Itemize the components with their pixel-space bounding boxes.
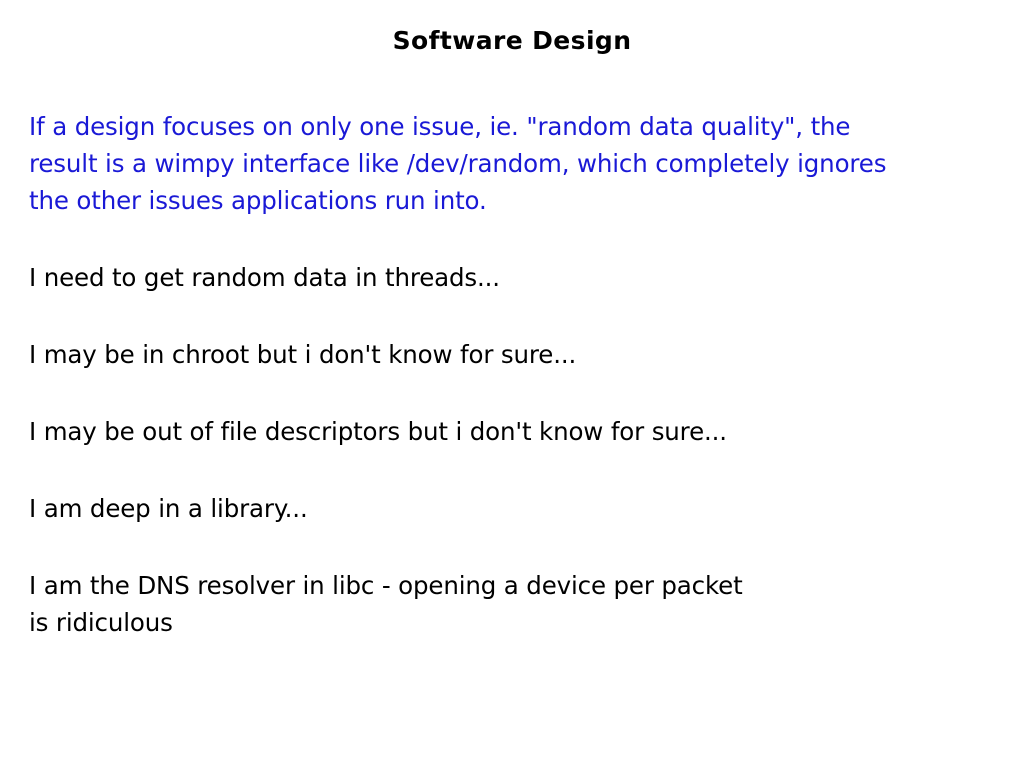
paragraph-line: I need to get random data in threads...	[29, 259, 1019, 296]
paragraph-line: the other issues applications run into.	[29, 182, 1019, 219]
paragraph-issue-library-depth: I am deep in a library...	[29, 490, 1019, 527]
paragraph-issue-dns-resolver: I am the DNS resolver in libc - opening …	[29, 567, 1019, 641]
paragraph-line: I am deep in a library...	[29, 490, 1019, 527]
paragraph-line: If a design focuses on only one issue, i…	[29, 108, 1019, 145]
paragraph-issue-threads: I need to get random data in threads...	[29, 259, 1019, 296]
presentation-slide: Software Design If a design focuses on o…	[0, 0, 1024, 768]
paragraph-line: I may be out of file descriptors but i d…	[29, 413, 1019, 450]
paragraph-line: I am the DNS resolver in libc - opening …	[29, 567, 1019, 604]
slide-title: Software Design	[0, 26, 1024, 55]
paragraph-line: is ridiculous	[29, 604, 1019, 641]
paragraph-issue-chroot: I may be in chroot but i don't know for …	[29, 336, 1019, 373]
paragraph-line: result is a wimpy interface like /dev/ra…	[29, 145, 1019, 182]
slide-body: If a design focuses on only one issue, i…	[29, 108, 1019, 641]
paragraph-design-focus-problem: If a design focuses on only one issue, i…	[29, 108, 1019, 219]
paragraph-line: I may be in chroot but i don't know for …	[29, 336, 1019, 373]
paragraph-issue-file-descriptors: I may be out of file descriptors but i d…	[29, 413, 1019, 450]
